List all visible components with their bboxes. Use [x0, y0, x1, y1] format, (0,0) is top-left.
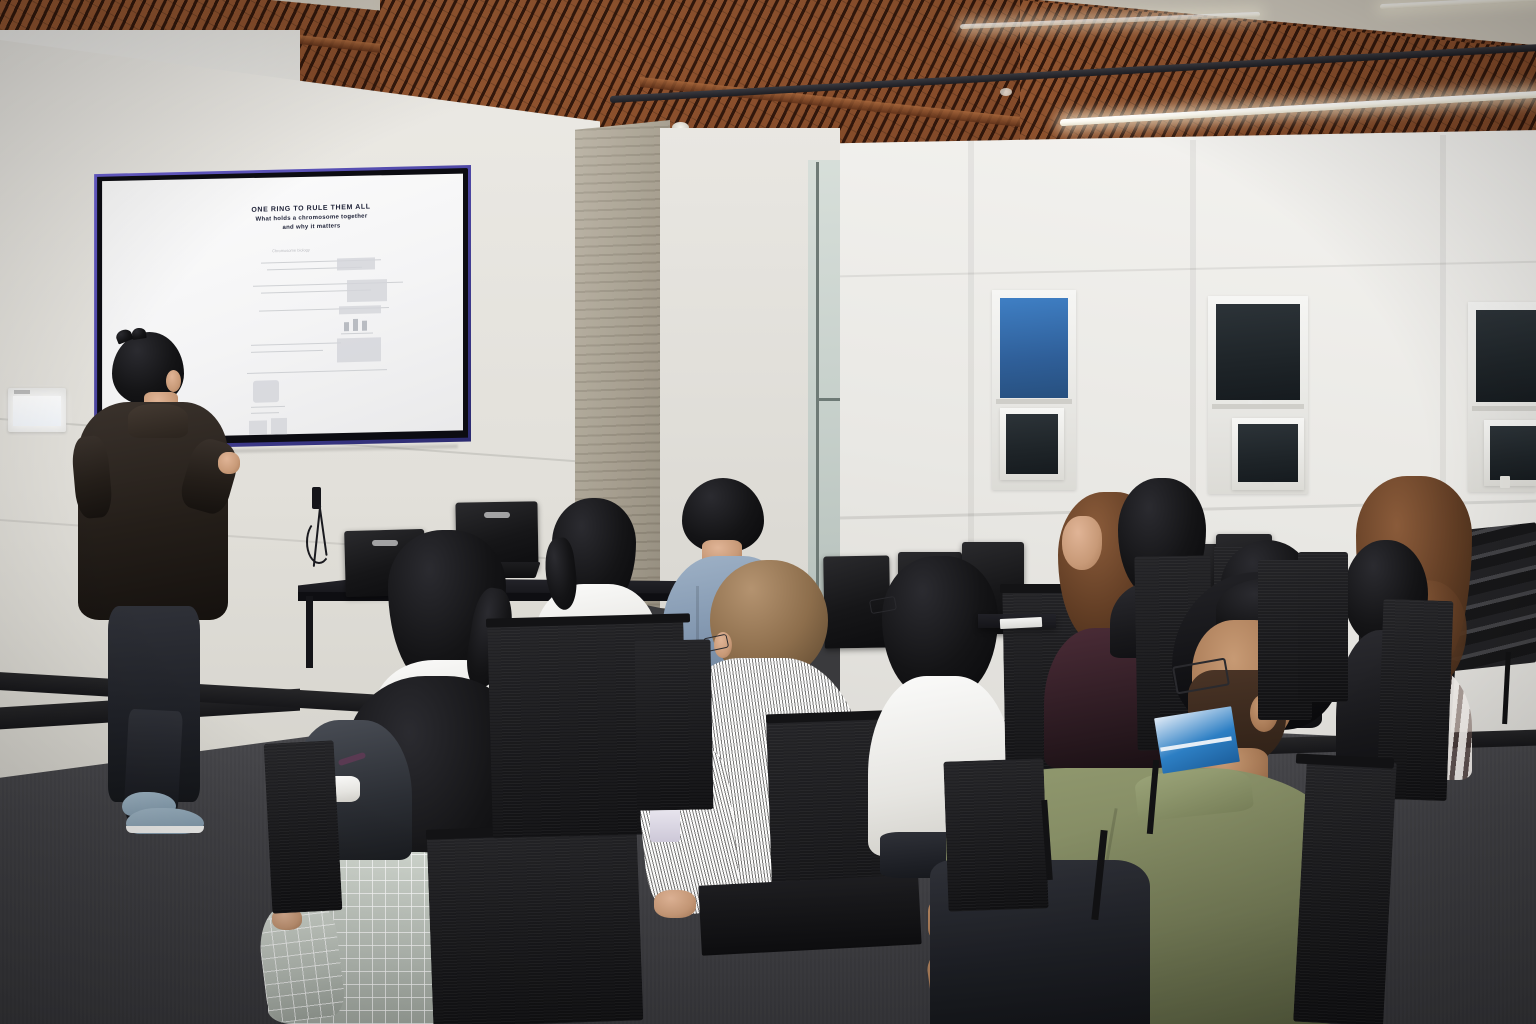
slide-block: [337, 337, 381, 362]
slide-bar: [362, 321, 367, 331]
seminar-room-photo: ONE RING TO RULE THEM ALL What holds a c…: [0, 0, 1536, 1024]
window-2-mullion: [1212, 404, 1304, 409]
av-control-panel-screen[interactable]: [13, 396, 61, 426]
slide-text-line: [247, 369, 387, 374]
slide-diagram-box: [253, 380, 279, 403]
presenter-hand: [218, 452, 240, 474]
chair-a4[interactable]: [635, 639, 714, 810]
slide-text-line: [251, 412, 279, 414]
av-control-panel-logo-icon: [14, 390, 30, 394]
glass-door-mullion-vertical: [816, 162, 819, 600]
slide-text-line: [251, 406, 285, 408]
window-3-mullion: [1472, 406, 1536, 411]
ceiling-downlight-spot-2: [1000, 88, 1012, 96]
slide-block: [339, 305, 381, 314]
slide-subtitle: Chromosome biology: [241, 246, 341, 254]
chair-foreground-right[interactable]: [1293, 758, 1397, 1024]
window-2-lower-glass: [1238, 424, 1298, 482]
slide-text-line: [251, 342, 341, 346]
window-3-handle-icon[interactable]: [1500, 476, 1510, 488]
chair-mid-foreground[interactable]: [943, 758, 1048, 911]
slide-block: [271, 418, 287, 436]
a7-face: [1062, 516, 1102, 570]
presenter-hair-tuft-2: [131, 327, 146, 340]
cable-loop: [306, 520, 332, 564]
chair-empty-2-handle: [484, 512, 510, 518]
window-2-handle-icon[interactable]: [1262, 482, 1274, 486]
presenter-blazer-collar: [128, 404, 188, 438]
window-3-upper-glass: [1476, 310, 1536, 402]
slide-bar: [344, 322, 349, 331]
chair-back-row-2[interactable]: [1298, 552, 1348, 702]
window-1-lower-glass: [1006, 414, 1058, 474]
window-1-upper-glass: [1000, 298, 1068, 398]
wall-pilaster-3: [1440, 135, 1446, 515]
chair-front-left[interactable]: [427, 826, 644, 1024]
presenter-shoe-sole: [126, 826, 204, 833]
slide-axis-line: [341, 332, 373, 334]
wall-pilaster-1: [968, 140, 974, 560]
chair-front-center-seat: [698, 874, 921, 955]
coffee-cup-body: [650, 808, 680, 842]
slide-block: [347, 279, 387, 302]
presenter-ear: [166, 370, 181, 392]
window-2-upper-glass: [1216, 304, 1300, 400]
presenter: [70, 330, 255, 840]
a5-hand: [654, 890, 696, 918]
slide-block: [337, 257, 375, 270]
window-3-lower-glass: [1490, 426, 1536, 480]
table-back-left-leg: [306, 596, 313, 668]
chair-far-left-partial[interactable]: [264, 740, 343, 913]
slide-text-line: [251, 350, 323, 353]
slide-bar: [353, 319, 358, 331]
window-1-mullion: [996, 399, 1072, 404]
